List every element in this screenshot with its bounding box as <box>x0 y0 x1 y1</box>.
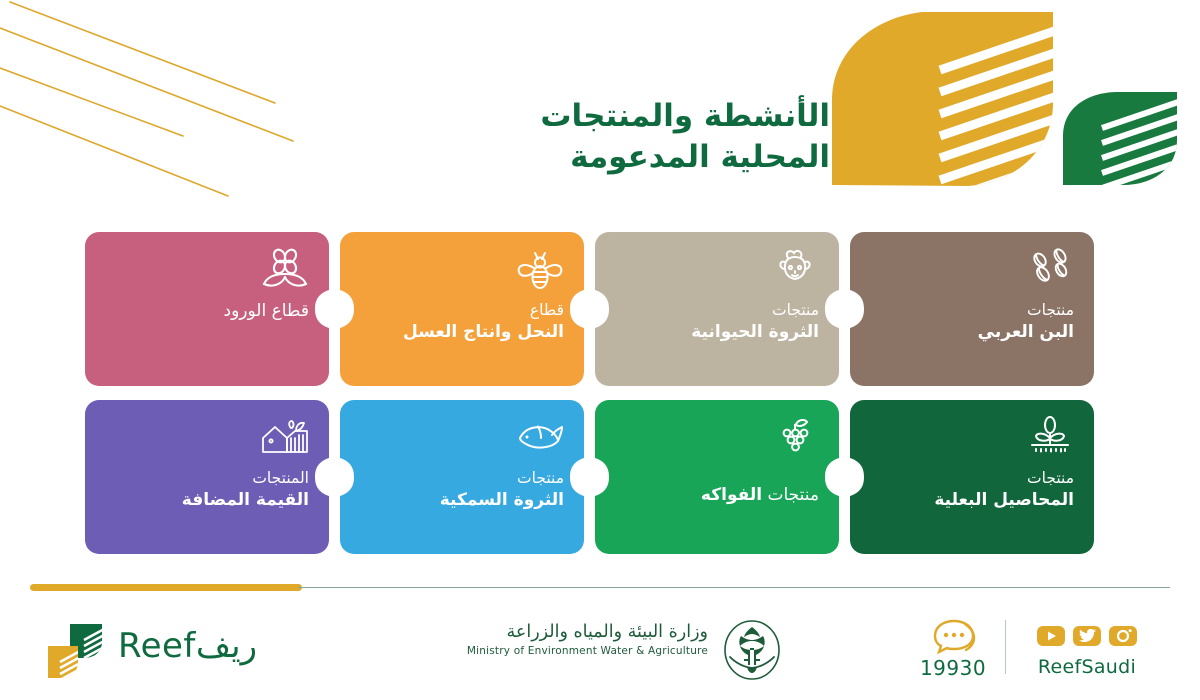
card-fruits[interactable]: منتجات الفواكه <box>595 400 839 554</box>
coffee-beans-icon <box>1024 246 1076 294</box>
card-value-added[interactable]: المنتجات القيمة المضافة <box>85 400 329 554</box>
divider-gold-bar <box>30 584 302 591</box>
card-label-word-2: الفواكه <box>701 485 762 505</box>
reef-wordmark-arabic: ريف <box>196 626 257 666</box>
card-labels: منتجات الفواكه <box>615 484 819 507</box>
social-handle: ReefSaudi <box>1017 656 1157 678</box>
contact-divider <box>1005 620 1006 674</box>
page-title: الأنشطة والمنتجات المحلية المدعومة <box>360 96 830 178</box>
card-label-line-2: النحل وانتاج العسل <box>360 321 564 344</box>
card-label-line-2: القيمة المضافة <box>105 489 309 512</box>
card-label-line-2: الثروة السمكية <box>360 489 564 512</box>
category-card-grid: قطاع الورود قطاع <box>85 232 1115 554</box>
card-label-line-2: الثروة الحيوانية <box>615 321 819 344</box>
card-fisheries[interactable]: منتجات الثروة السمكية <box>340 400 584 554</box>
card-label-word-2: الورود <box>224 301 267 321</box>
card-label-line-1: منتجات <box>870 300 1074 321</box>
farm-greenhouse-icon <box>259 414 311 462</box>
page-title-line-2: المحلية المدعومة <box>360 137 830 178</box>
card-label-word-1: قطاع <box>272 301 309 321</box>
saudi-emblem-icon <box>714 619 790 681</box>
card-label-line-1: منتجات <box>360 468 564 489</box>
bee-icon <box>514 246 566 294</box>
sheep-icon <box>769 246 821 294</box>
instagram-icon[interactable] <box>1108 623 1138 649</box>
ministry-name-english: Ministry of Environment Water & Agricult… <box>467 645 708 657</box>
reef-logo[interactable]: Reefريف <box>44 618 304 684</box>
card-labels: منتجات الثروة السمكية <box>360 468 564 513</box>
fish-icon <box>514 414 566 462</box>
footer: Reefريف وزارة البيئة والمياه والزراعة Mi… <box>0 600 1200 700</box>
ministry-name-arabic: وزارة البيئة والمياه والزراعة <box>467 622 708 642</box>
divider-thin-line <box>298 587 1170 588</box>
decorative-diagonal-lines <box>0 0 300 220</box>
flower-icon <box>259 246 311 294</box>
card-roses[interactable]: قطاع الورود <box>85 232 329 386</box>
card-label-line-1: منتجات <box>615 300 819 321</box>
hotline-number: 19930 <box>905 656 1001 680</box>
social-icons <box>1017 618 1157 654</box>
grapes-icon <box>769 414 821 462</box>
sprout-icon <box>1024 414 1076 462</box>
social-block: ReefSaudi <box>1017 618 1157 678</box>
twitter-icon[interactable] <box>1072 623 1102 649</box>
reef-leaf-brandmark <box>810 0 1200 210</box>
speech-bubble-icon <box>929 618 977 654</box>
card-arabic-coffee[interactable]: منتجات البن العربي <box>850 232 1094 386</box>
card-labels: قطاع النحل وانتاج العسل <box>360 300 564 345</box>
card-labels: قطاع الورود <box>105 300 309 323</box>
card-bees-honey[interactable]: قطاع النحل وانتاج العسل <box>340 232 584 386</box>
card-labels: المنتجات القيمة المضافة <box>105 468 309 513</box>
hotline[interactable]: 19930 <box>905 618 1001 680</box>
card-label-word-1: منتجات <box>767 485 819 505</box>
card-label-line-2: البن العربي <box>870 321 1074 344</box>
ministry-texts: وزارة البيئة والمياه والزراعة Ministry o… <box>467 622 708 657</box>
youtube-icon[interactable] <box>1036 623 1066 649</box>
card-label-line-1: قطاع <box>360 300 564 321</box>
card-label-line-1: منتجات <box>870 468 1074 489</box>
reef-wordmark-latin: Reef <box>118 626 196 666</box>
card-label-line-2: المحاصيل البعلية <box>870 489 1074 512</box>
card-rainfed-crops[interactable]: منتجات المحاصيل البعلية <box>850 400 1094 554</box>
card-labels: منتجات البن العربي <box>870 300 1074 345</box>
contact-block: 19930 <box>905 618 1155 684</box>
reef-wordmark: Reefريف <box>118 626 306 674</box>
reef-logo-mark-icon <box>44 620 114 680</box>
card-labels: منتجات الثروة الحيوانية <box>615 300 819 345</box>
footer-divider <box>30 584 1170 592</box>
page-title-line-1: الأنشطة والمنتجات <box>360 96 830 137</box>
ministry-logo: وزارة البيئة والمياه والزراعة Ministry o… <box>400 622 790 680</box>
card-livestock[interactable]: منتجات الثروة الحيوانية <box>595 232 839 386</box>
card-labels: منتجات المحاصيل البعلية <box>870 468 1074 513</box>
card-label-line-1: المنتجات <box>105 468 309 489</box>
